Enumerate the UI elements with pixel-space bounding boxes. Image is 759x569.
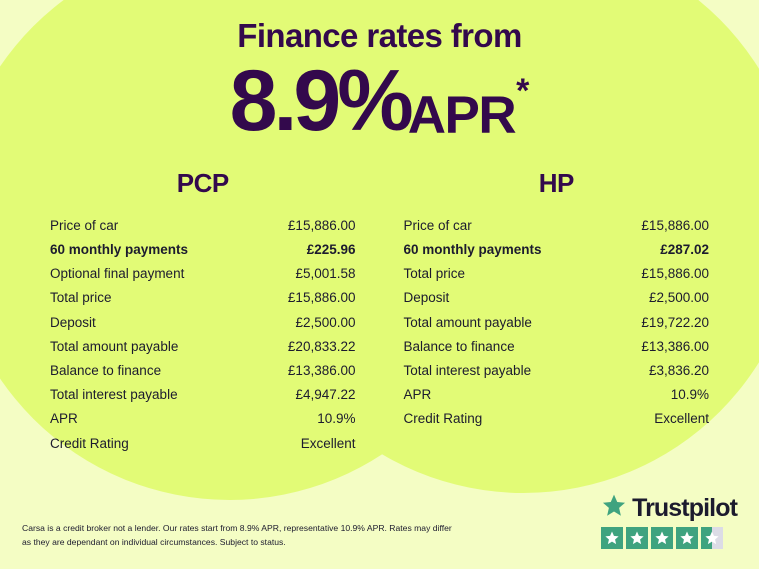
table-row: 60 monthly payments£225.96 bbox=[50, 237, 356, 261]
row-value: £225.96 bbox=[307, 242, 356, 257]
row-label: Credit Rating bbox=[50, 436, 129, 451]
row-label: Price of car bbox=[50, 218, 118, 233]
row-value: £19,722.20 bbox=[641, 315, 709, 330]
table-row: Deposit£2,500.00 bbox=[50, 310, 356, 334]
finance-comparison-tables: PCP Price of car£15,886.00 60 monthly pa… bbox=[0, 168, 759, 455]
row-label: Optional final payment bbox=[50, 266, 184, 281]
trustpilot-name: Trustpilot bbox=[632, 494, 737, 523]
row-value: £13,386.00 bbox=[288, 363, 356, 378]
table-row: Credit RatingExcellent bbox=[404, 407, 710, 431]
row-label: 60 monthly payments bbox=[404, 242, 542, 257]
row-value: £13,386.00 bbox=[641, 339, 709, 354]
row-label: Balance to finance bbox=[50, 363, 161, 378]
row-label: Total interest payable bbox=[50, 387, 178, 402]
star-icon-1 bbox=[601, 527, 623, 549]
plan-title-pcp: PCP bbox=[50, 168, 356, 199]
table-row: Total interest payable£3,836.20 bbox=[404, 358, 710, 382]
trustpilot-star-icon bbox=[601, 493, 627, 523]
headline-asterisk: * bbox=[516, 74, 529, 108]
trustpilot-star-rating bbox=[601, 527, 737, 549]
page-content: Finance rates from 8.9% APR * PCP Price … bbox=[0, 0, 759, 569]
page-title: Finance rates from bbox=[0, 18, 759, 54]
hero-section: Finance rates from 8.9% APR * bbox=[0, 0, 759, 144]
table-row: Price of car£15,886.00 bbox=[50, 213, 356, 237]
row-value: £15,886.00 bbox=[288, 290, 356, 305]
row-label: Total amount payable bbox=[50, 339, 178, 354]
row-label: APR bbox=[404, 387, 432, 402]
row-value: 10.9% bbox=[671, 387, 709, 402]
headline-apr-label: APR bbox=[408, 89, 515, 144]
row-label: Balance to finance bbox=[404, 339, 515, 354]
row-label: Total price bbox=[50, 290, 112, 305]
row-label: Total interest payable bbox=[404, 363, 532, 378]
trustpilot-rating-widget[interactable]: Trustpilot bbox=[601, 493, 737, 569]
plan-card-pcp: PCP Price of car£15,886.00 60 monthly pa… bbox=[26, 168, 380, 455]
table-row: Balance to finance£13,386.00 bbox=[404, 334, 710, 358]
table-row: Total price£15,886.00 bbox=[404, 262, 710, 286]
table-row: Price of car£15,886.00 bbox=[404, 213, 710, 237]
table-row: Credit RatingExcellent bbox=[50, 431, 356, 455]
table-row: Deposit£2,500.00 bbox=[404, 286, 710, 310]
row-label: Price of car bbox=[404, 218, 472, 233]
row-value: Excellent bbox=[301, 436, 356, 451]
table-row: APR10.9% bbox=[50, 407, 356, 431]
row-label: APR bbox=[50, 411, 78, 426]
headline-rate-value: 8.9% bbox=[230, 58, 410, 144]
row-value: £4,947.22 bbox=[295, 387, 355, 402]
row-label: 60 monthly payments bbox=[50, 242, 188, 257]
row-label: Deposit bbox=[50, 315, 96, 330]
row-value: £287.02 bbox=[660, 242, 709, 257]
row-label: Credit Rating bbox=[404, 411, 483, 426]
row-value: £2,500.00 bbox=[649, 290, 709, 305]
star-icon-2 bbox=[626, 527, 648, 549]
headline-rate-line: 8.9% APR * bbox=[0, 58, 759, 144]
table-row: Optional final payment£5,001.58 bbox=[50, 262, 356, 286]
footer: Carsa is a credit broker not a lender. O… bbox=[0, 491, 759, 569]
row-value: £5,001.58 bbox=[295, 266, 355, 281]
row-value: £15,886.00 bbox=[288, 218, 356, 233]
table-row: 60 monthly payments£287.02 bbox=[404, 237, 710, 261]
star-icon-5-half bbox=[701, 527, 723, 549]
row-value: 10.9% bbox=[317, 411, 355, 426]
row-value: Excellent bbox=[654, 411, 709, 426]
plan-title-hp: HP bbox=[404, 168, 710, 199]
row-label: Deposit bbox=[404, 290, 450, 305]
table-row: Total amount payable£19,722.20 bbox=[404, 310, 710, 334]
legal-disclaimer: Carsa is a credit broker not a lender. O… bbox=[22, 522, 452, 569]
row-value: £3,836.20 bbox=[649, 363, 709, 378]
table-row: Total price£15,886.00 bbox=[50, 286, 356, 310]
row-label: Total price bbox=[404, 266, 466, 281]
star-icon-3 bbox=[651, 527, 673, 549]
row-value: £2,500.00 bbox=[295, 315, 355, 330]
table-row: APR10.9% bbox=[404, 383, 710, 407]
star-icon-4 bbox=[676, 527, 698, 549]
trustpilot-wordmark: Trustpilot bbox=[601, 493, 737, 523]
table-row: Balance to finance£13,386.00 bbox=[50, 358, 356, 382]
row-label: Total amount payable bbox=[404, 315, 532, 330]
table-row: Total amount payable£20,833.22 bbox=[50, 334, 356, 358]
plan-card-hp: HP Price of car£15,886.00 60 monthly pay… bbox=[380, 168, 734, 455]
row-value: £15,886.00 bbox=[641, 218, 709, 233]
row-value: £20,833.22 bbox=[288, 339, 356, 354]
table-row: Total interest payable£4,947.22 bbox=[50, 383, 356, 407]
row-value: £15,886.00 bbox=[641, 266, 709, 281]
